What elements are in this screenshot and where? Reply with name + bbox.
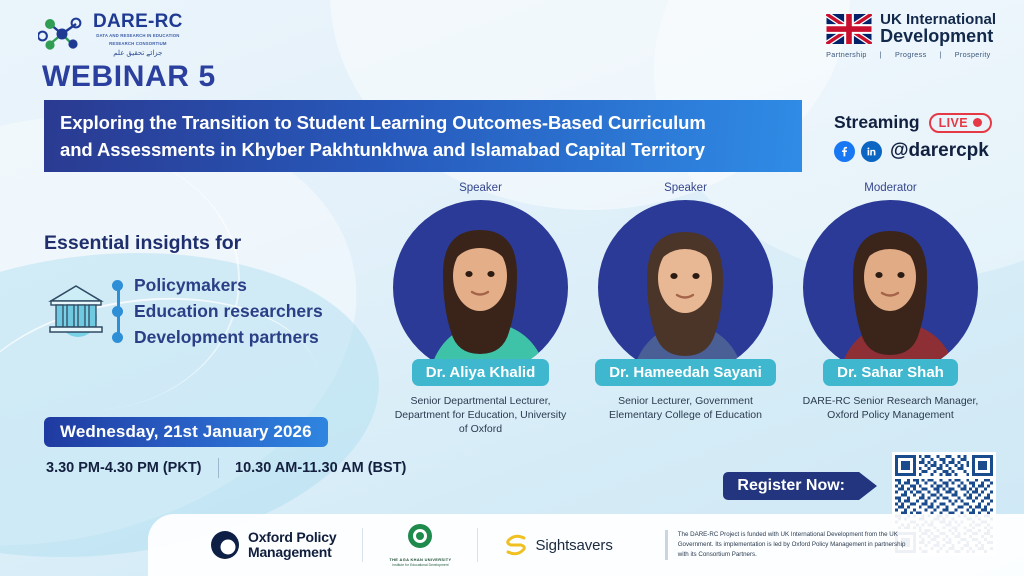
insights-item-label: Policymakers — [134, 275, 247, 296]
speaker-photo — [598, 200, 773, 375]
speaker-photo — [393, 200, 568, 375]
speaker-name-plate: Dr. Hameedah Sayani — [595, 359, 776, 386]
sightsavers-wordmark: Sightsavers — [535, 537, 612, 554]
speaker-name-plate: Dr. Aliya Khalid — [412, 359, 549, 386]
moderator-name-plate: Dr. Sahar Shah — [823, 359, 958, 386]
aku-ring-icon — [407, 536, 433, 553]
insights-item-development-partners: Development partners — [112, 324, 323, 350]
uk-line-2: Development — [880, 27, 996, 45]
bullet-dot-icon — [112, 332, 123, 343]
insights-item-policymakers: Policymakers — [112, 272, 323, 298]
dare-rc-subtitle-2: RESEARCH CONSORTIUM — [93, 41, 183, 47]
facebook-icon[interactable] — [834, 141, 855, 162]
live-badge: LIVE — [929, 113, 992, 133]
dare-rc-wordmark: DARE-RC DATA AND RESEARCH IN EDUCATION R… — [93, 12, 183, 57]
uk-tagline-partnership: Partnership — [826, 50, 867, 59]
footer-bar: Oxford Policy Management THE AGA KHAN UN… — [148, 514, 1024, 576]
webinar-number-heading: WEBINAR 5 — [42, 60, 216, 94]
institution-building-icon — [45, 278, 107, 340]
social-handle[interactable]: @darercpk — [890, 140, 989, 162]
speaker-role-label: Speaker — [459, 182, 502, 194]
streaming-block: Streaming LIVE @darercpk — [834, 112, 992, 162]
event-time-pkt: 3.30 PM-4.30 PM (PKT) — [46, 460, 202, 476]
event-times: 3.30 PM-4.30 PM (PKT) 10.30 AM-11.30 AM … — [46, 458, 406, 478]
aku-name: THE AGA KHAN UNIVERSITY — [389, 557, 451, 562]
dare-rc-logo: DARE-RC DATA AND RESEARCH IN EDUCATION R… — [38, 12, 183, 57]
live-badge-label: LIVE — [939, 116, 968, 130]
sightsavers-eye-icon — [504, 532, 528, 558]
register-now-label: Register Now: — [737, 477, 845, 495]
opm-line-2: Management — [248, 545, 336, 560]
speakers-row: Speaker Dr. Aliya Khalid Senior Departme… — [386, 182, 986, 437]
event-time-bst: 10.30 AM-11.30 AM (BST) — [235, 460, 406, 476]
opm-circle-icon — [210, 530, 240, 560]
live-record-dot-icon — [973, 118, 982, 127]
partner-logos: Oxford Policy Management THE AGA KHAN UN… — [148, 523, 909, 568]
webinar-title-line-2: and Assessments in Khyber Pakhtunkhwa an… — [60, 139, 786, 161]
moderator-photo — [803, 200, 978, 375]
speaker-affiliation: Senior Lecturer, Government Elementary C… — [597, 394, 775, 422]
logo-divider — [477, 528, 478, 562]
time-divider — [218, 458, 220, 478]
uk-tagline-progress: Progress — [895, 50, 927, 59]
streaming-label: Streaming — [834, 112, 920, 133]
webinar-title-banner: Exploring the Transition to Student Lear… — [44, 100, 802, 172]
uk-wordmark: UK International Development — [880, 12, 996, 46]
bullet-dot-icon — [112, 306, 123, 317]
uk-tagline-divider-1: | — [880, 50, 882, 59]
moderator-affiliation: DARE-RC Senior Research Manager, Oxford … — [802, 394, 980, 422]
event-date-pill: Wednesday, 21st January 2026 — [44, 417, 328, 447]
bullet-dot-icon — [112, 280, 123, 291]
uk-tagline: Partnership | Progress | Prosperity — [826, 50, 990, 59]
dare-rc-urdu-text: جزائے تحقیق علم — [93, 50, 183, 57]
uk-tagline-prosperity: Prosperity — [955, 50, 991, 59]
dare-rc-title: DARE-RC — [93, 12, 183, 31]
union-jack-flag-icon — [826, 14, 872, 44]
funding-disclaimer: The DARE-RC Project is funded with UK In… — [665, 530, 909, 561]
register-now-button[interactable]: Register Now: — [723, 472, 859, 500]
dare-rc-subtitle-1: DATA AND RESEARCH IN EDUCATION — [93, 33, 183, 39]
speaker-role-label: Speaker — [664, 182, 707, 194]
insights-list: Policymakers Education researchers Devel… — [112, 272, 323, 350]
poster-canvas: DARE-RC DATA AND RESEARCH IN EDUCATION R… — [0, 0, 1024, 576]
sightsavers-logo: Sightsavers — [504, 532, 612, 558]
speaker-card-aliya-khalid: Speaker Dr. Aliya Khalid Senior Departme… — [386, 182, 575, 437]
insights-heading: Essential insights for — [44, 232, 241, 255]
uk-line-1: UK International — [880, 12, 996, 27]
moderator-role-label: Moderator — [864, 182, 916, 194]
opm-wordmark: Oxford Policy Management — [248, 530, 336, 559]
aga-khan-university-logo: THE AGA KHAN UNIVERSITY Institute for Ed… — [389, 523, 451, 568]
logo-divider — [362, 528, 363, 562]
dare-rc-network-icon — [38, 14, 86, 54]
insights-item-label: Education researchers — [134, 301, 323, 322]
linkedin-icon[interactable] — [861, 141, 882, 162]
oxford-policy-management-logo: Oxford Policy Management — [210, 530, 336, 560]
aku-subtitle: Institute for Educational Development — [389, 563, 451, 567]
speaker-card-sahar-shah: Moderator Dr. Sahar Shah DARE-RC Senior … — [796, 182, 985, 437]
speaker-card-hameedah-sayani: Speaker Dr. Hameedah Sayani Senior Lectu… — [591, 182, 780, 437]
webinar-title-line-1: Exploring the Transition to Student Lear… — [60, 112, 786, 134]
uk-tagline-divider-2: | — [940, 50, 942, 59]
speaker-affiliation: Senior Departmental Lecturer, Department… — [392, 394, 570, 437]
insights-item-label: Development partners — [134, 327, 319, 348]
uk-international-development-logo: UK International Development Partnership… — [826, 12, 996, 59]
opm-line-1: Oxford Policy — [248, 530, 336, 545]
event-date: Wednesday, 21st January 2026 — [60, 422, 312, 442]
insights-item-education-researchers: Education researchers — [112, 298, 323, 324]
